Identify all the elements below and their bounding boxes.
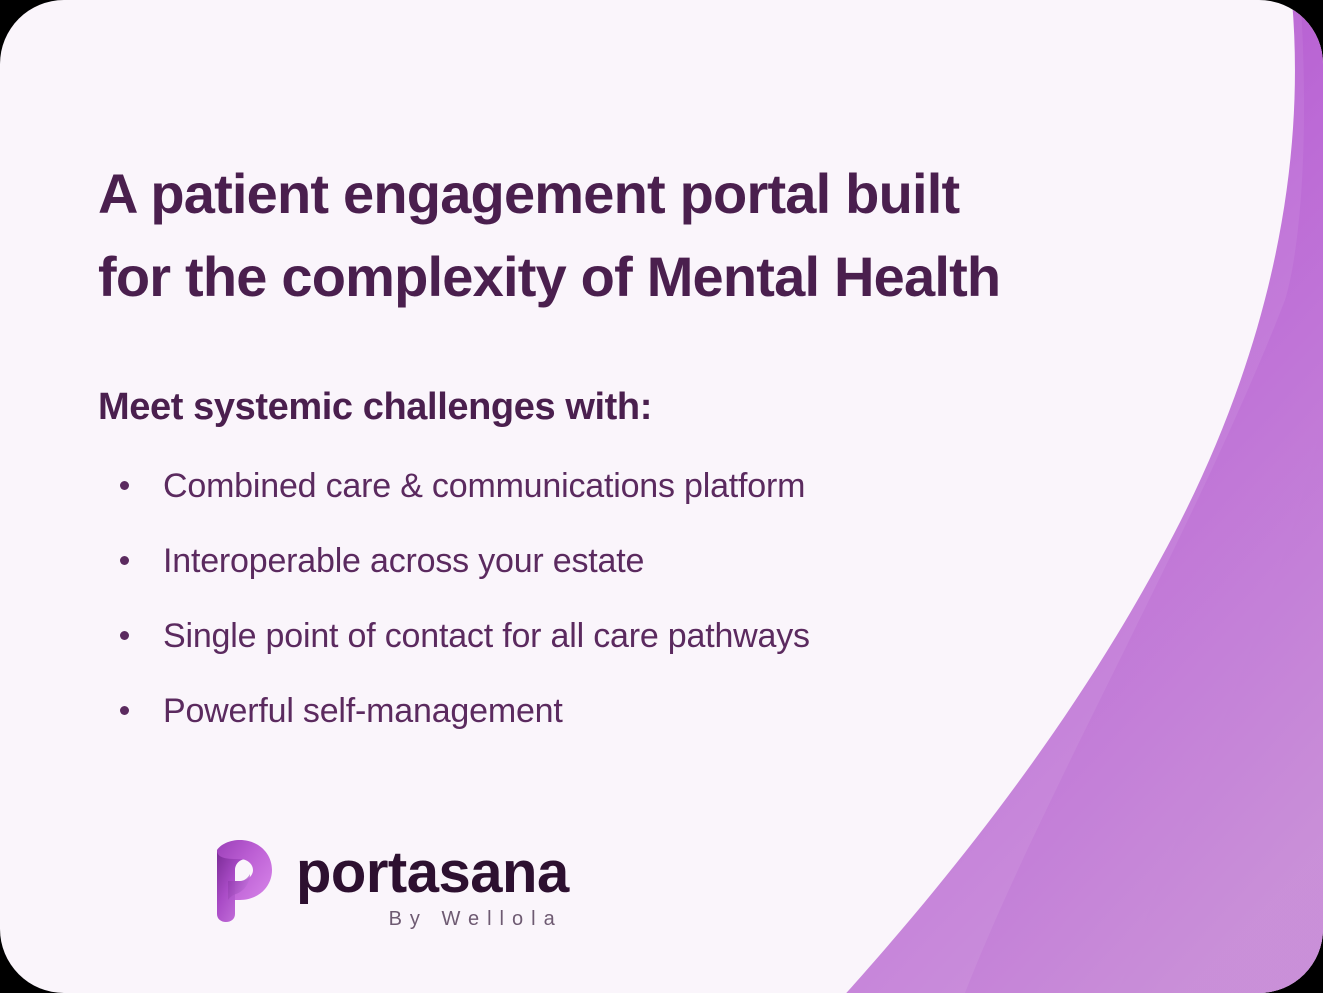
list-item: Single point of contact for all care pat… (98, 612, 810, 687)
bullet-dot-icon (120, 481, 129, 490)
list-item: Combined care & communications platform (98, 462, 810, 537)
list-item: Interoperable across your estate (98, 537, 810, 612)
page-title: A patient engagement portal built for th… (98, 152, 1098, 318)
logo-text-group: portasana By Wellola (296, 838, 569, 932)
list-item-label: Combined care & communications platform (163, 467, 805, 505)
list-item-label: Interoperable across your estate (163, 542, 644, 580)
bullet-dot-icon (120, 631, 129, 640)
wave-back (1118, 0, 1323, 993)
brand-logo: portasana By Wellola (208, 838, 569, 932)
brand-wordmark: portasana (296, 838, 569, 904)
section-subtitle: Meet systemic challenges with: (98, 382, 652, 432)
bullet-dot-icon (120, 556, 129, 565)
list-item-label: Single point of contact for all care pat… (163, 617, 810, 655)
slide-card: A patient engagement portal built for th… (0, 0, 1323, 993)
bullet-dot-icon (120, 706, 129, 715)
list-item-label: Powerful self-management (163, 692, 563, 730)
brand-tagline: By Wellola (389, 906, 563, 932)
slide-content: A patient engagement portal built for th… (98, 0, 1108, 993)
portasana-p-mark-icon (208, 838, 276, 924)
list-item: Powerful self-management (98, 687, 810, 762)
benefits-list: Combined care & communications platform … (98, 462, 810, 762)
